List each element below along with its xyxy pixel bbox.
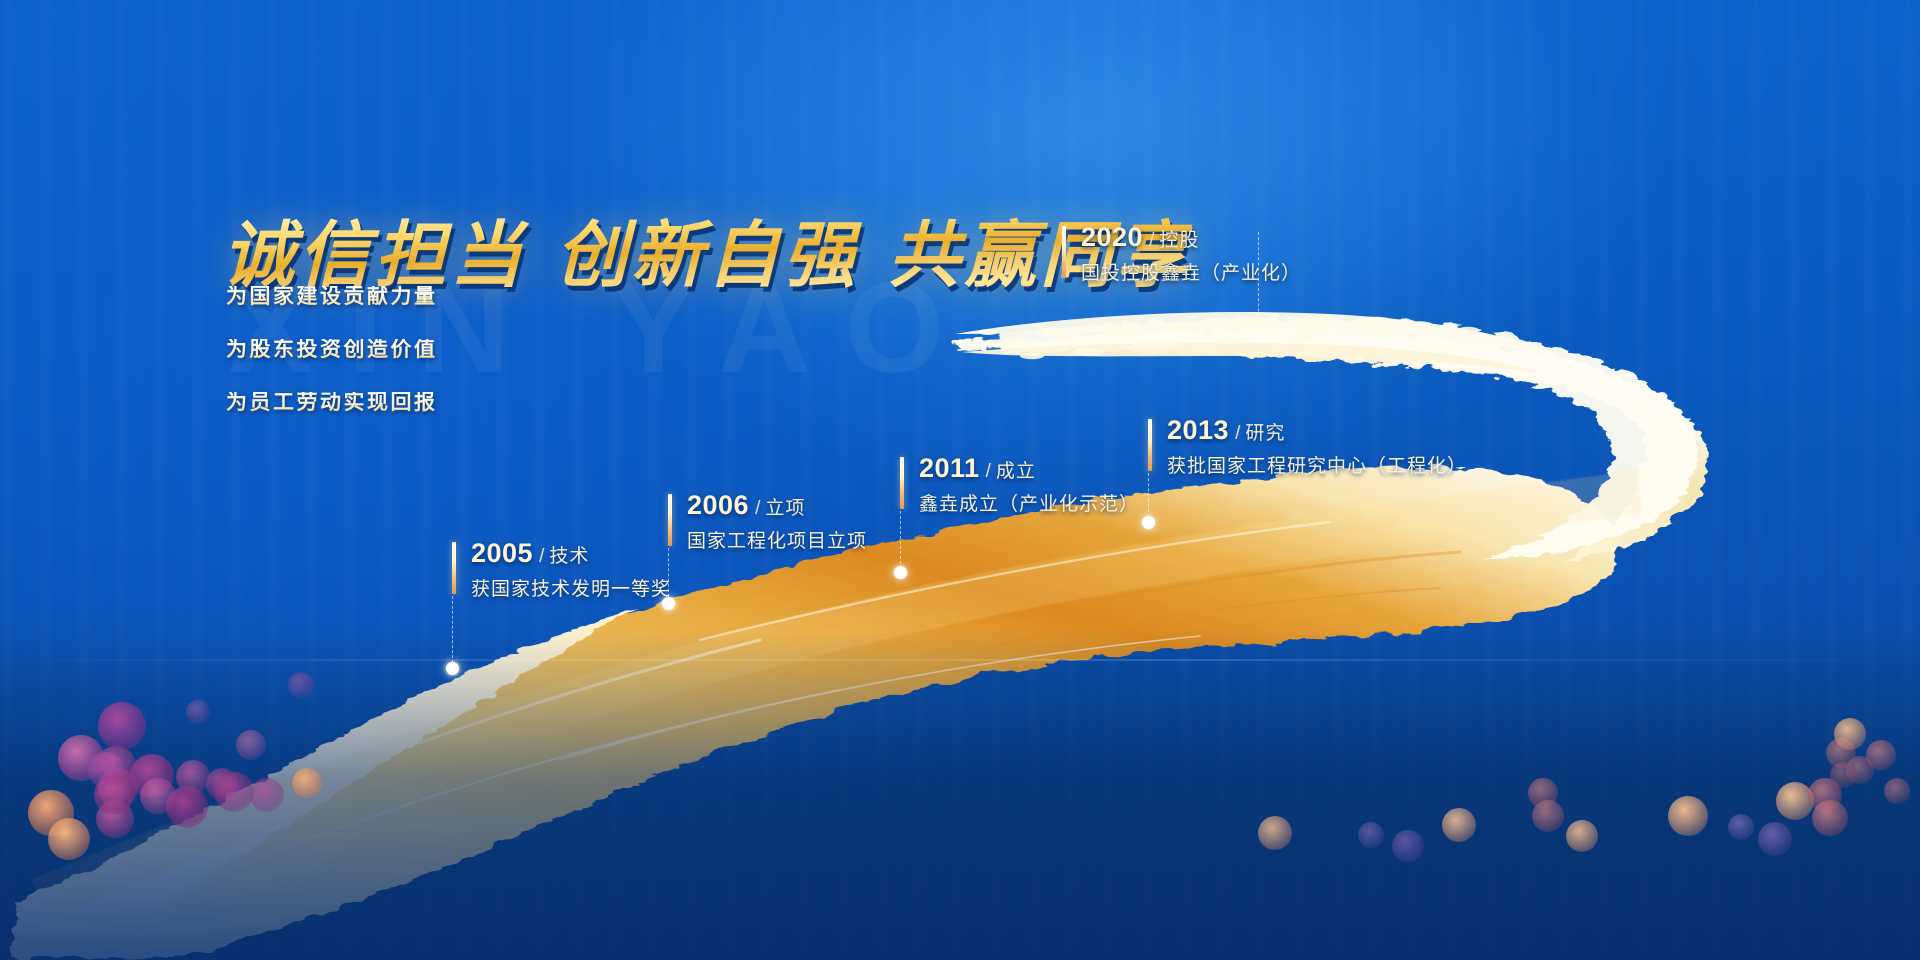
bokeh-light	[1392, 830, 1424, 862]
bokeh-light	[1442, 808, 1476, 842]
milestone-marker-dot[interactable]	[446, 662, 459, 675]
horizon-divider	[0, 659, 1920, 661]
milestone-marker-dot[interactable]	[1142, 516, 1155, 529]
milestone-separator: /	[755, 498, 760, 519]
milestone-separator: /	[1235, 423, 1240, 444]
milestone-category: 成立	[996, 460, 1036, 482]
bokeh-light	[1866, 740, 1896, 770]
bokeh-light	[236, 730, 266, 760]
milestone-category: 控股	[1159, 229, 1199, 251]
milestone-year: 2011	[919, 453, 980, 483]
bokeh-light	[140, 778, 176, 814]
slogan-list: 为国家建设贡献力量 为股东投资创造价值 为员工劳动实现回报	[226, 286, 646, 445]
bokeh-light	[98, 768, 138, 808]
milestone-year: 2013	[1167, 415, 1229, 445]
bokeh-light	[94, 775, 134, 815]
milestone-description: 获国家技术发明一等奖	[471, 580, 671, 599]
slogan-line-2: 为股东投资创造价值	[226, 339, 646, 360]
milestone-marker-dot[interactable]	[894, 566, 907, 579]
slogan-line-1: 为国家建设贡献力量	[226, 286, 646, 307]
milestone-2013[interactable]: 2013/研究 获批国家工程研究中心（工程化）	[1148, 417, 1467, 476]
milestone-leader-line	[1148, 473, 1149, 522]
bokeh-light	[1776, 782, 1814, 820]
bokeh-light	[1830, 762, 1856, 788]
milestone-leader-line	[668, 548, 669, 602]
bokeh-light	[28, 790, 74, 836]
milestone-2011[interactable]: 2011/成立 鑫垚成立（产业化示范）	[900, 455, 1139, 514]
milestone-year: 2005	[471, 538, 533, 568]
milestone-description: 国家工程化项目立项	[687, 532, 867, 551]
milestone-description: 国投控股鑫垚（产业化）	[1081, 264, 1301, 283]
milestone-2005[interactable]: 2005/技术 获国家技术发明一等奖	[452, 540, 671, 599]
milestone-description: 获批国家工程研究中心（工程化）	[1167, 457, 1467, 476]
milestone-category: 技术	[549, 545, 589, 567]
bokeh-light	[1566, 820, 1598, 852]
bokeh-light	[1808, 778, 1842, 812]
milestone-year: 2020	[1081, 222, 1143, 252]
milestone-accent-bar	[452, 542, 456, 594]
milestone-2006[interactable]: 2006/立项 国家工程化项目立项	[668, 492, 867, 551]
bokeh-light	[1258, 816, 1292, 850]
bokeh-light	[88, 752, 124, 788]
milestone-separator: /	[986, 461, 991, 482]
milestone-accent-bar	[1148, 419, 1152, 471]
milestone-2020[interactable]: 2020/控股 国投控股鑫垚（产业化）	[1062, 224, 1301, 283]
banner-stage: XIN YAO 诚信担当 创新自强 共赢同享 为国家建设贡献力量 为股东投资创造…	[0, 0, 1920, 960]
bokeh-light	[1826, 738, 1856, 768]
bokeh-light	[1758, 822, 1792, 856]
milestone-leader-line	[1258, 232, 1259, 342]
bokeh-light	[58, 735, 104, 781]
milestone-accent-bar	[1062, 226, 1066, 278]
bokeh-light	[1884, 778, 1910, 804]
bokeh-light	[1846, 756, 1874, 784]
bokeh-light	[96, 746, 136, 786]
milestone-description: 鑫垚成立（产业化示范）	[919, 495, 1139, 514]
milestone-leader-line	[900, 511, 901, 564]
bokeh-light	[130, 754, 174, 798]
bokeh-light	[1728, 814, 1754, 840]
bokeh-light	[292, 768, 322, 798]
bottom-vignette	[0, 630, 1920, 960]
bokeh-light	[1532, 800, 1564, 832]
bokeh-light	[98, 702, 146, 750]
milestone-category: 研究	[1245, 422, 1285, 444]
bokeh-light	[1668, 796, 1708, 836]
bokeh-light	[288, 672, 314, 698]
milestone-year: 2006	[687, 490, 749, 520]
milestone-accent-bar	[668, 494, 672, 546]
bokeh-light	[206, 768, 238, 800]
bokeh-light	[250, 778, 284, 812]
bokeh-light	[1528, 778, 1558, 808]
bokeh-light	[1812, 800, 1848, 836]
bokeh-light	[1834, 718, 1866, 750]
milestone-separator: /	[1149, 230, 1154, 251]
milestone-leader-line	[452, 596, 453, 668]
bokeh-light	[1358, 822, 1384, 848]
bokeh-light	[166, 786, 208, 828]
bokeh-light	[214, 772, 254, 812]
bokeh-light	[176, 760, 210, 794]
milestone-marker-dot[interactable]	[662, 597, 675, 610]
milestone-separator: /	[539, 546, 544, 567]
bokeh-light	[48, 818, 90, 860]
milestone-accent-bar	[900, 457, 904, 509]
milestone-category: 立项	[765, 497, 805, 519]
bokeh-light	[186, 700, 210, 724]
slogan-line-3: 为员工劳动实现回报	[226, 392, 646, 413]
bokeh-light	[96, 800, 134, 838]
